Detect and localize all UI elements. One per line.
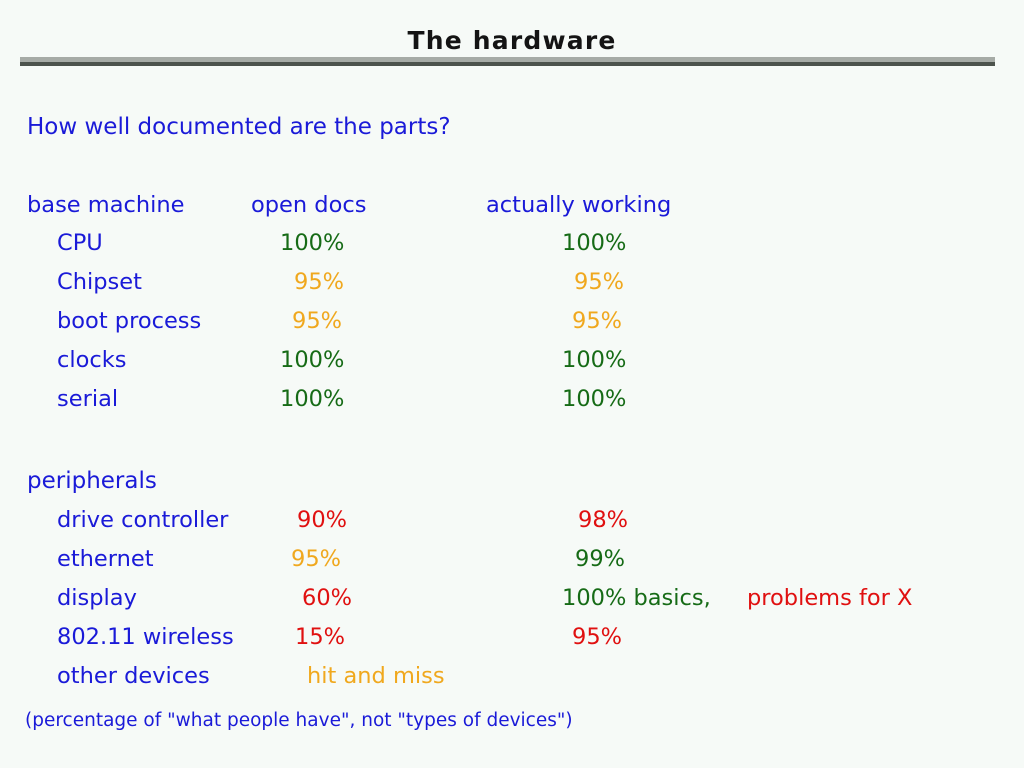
cell-open-docs-cpu: 100%	[280, 230, 344, 256]
column-header-open-docs: open docs	[251, 192, 366, 218]
cell-working-802-11-wireless: 95%	[572, 624, 622, 650]
cell-open-docs-chipset: 95%	[294, 269, 344, 295]
page-title: The hardware	[0, 26, 1024, 55]
section-header-peripherals: peripherals	[27, 468, 157, 494]
cell-working-display-note: problems for X	[747, 585, 912, 611]
question-line: How well documented are the parts?	[27, 114, 451, 140]
table-row: CPU 100% 100%	[0, 230, 1024, 269]
footnote: (percentage of "what people have", not "…	[25, 710, 573, 731]
table-row: serial 100% 100%	[0, 386, 1024, 425]
table-row: clocks 100% 100%	[0, 347, 1024, 386]
divider-dark-band	[20, 62, 995, 66]
cell-working-chipset: 95%	[574, 269, 624, 295]
row-label-cpu: CPU	[57, 230, 103, 256]
row-label-802-11-wireless: 802.11 wireless	[57, 624, 234, 650]
cell-open-docs-802-11-wireless: 15%	[295, 624, 345, 650]
cell-working-ethernet: 99%	[575, 546, 625, 572]
cell-open-docs-serial: 100%	[280, 386, 344, 412]
cell-working-boot-process: 95%	[572, 308, 622, 334]
cell-open-docs-boot-process: 95%	[292, 308, 342, 334]
table-row: display 60% 100% basics, problems for X	[0, 585, 1024, 624]
row-label-display: display	[57, 585, 137, 611]
row-label-clocks: clocks	[57, 347, 127, 373]
column-header-group: base machine	[27, 192, 184, 218]
cell-open-docs-other-devices: hit and miss	[307, 663, 445, 689]
cell-open-docs-drive-controller: 90%	[297, 507, 347, 533]
cell-working-clocks: 100%	[562, 347, 626, 373]
cell-open-docs-clocks: 100%	[280, 347, 344, 373]
row-label-drive-controller: drive controller	[57, 507, 228, 533]
row-label-boot-process: boot process	[57, 308, 201, 334]
cell-working-display: 100% basics,	[562, 585, 711, 611]
cell-working-serial: 100%	[562, 386, 626, 412]
title-divider	[20, 57, 995, 66]
cell-working-cpu: 100%	[562, 230, 626, 256]
cell-working-drive-controller: 98%	[578, 507, 628, 533]
row-label-chipset: Chipset	[57, 269, 142, 295]
table-row: boot process 95% 95%	[0, 308, 1024, 347]
row-label-ethernet: ethernet	[57, 546, 154, 572]
table-row: drive controller 90% 98%	[0, 507, 1024, 546]
table-row: ethernet 95% 99%	[0, 546, 1024, 585]
column-header-actually-working: actually working	[486, 192, 671, 218]
cell-open-docs-ethernet: 95%	[291, 546, 341, 572]
table-header-row: base machine open docs actually working	[0, 192, 1024, 231]
table-row: 802.11 wireless 15% 95%	[0, 624, 1024, 663]
row-label-serial: serial	[57, 386, 118, 412]
cell-open-docs-display: 60%	[302, 585, 352, 611]
table-row: other devices hit and miss	[0, 663, 1024, 702]
table-row: Chipset 95% 95%	[0, 269, 1024, 308]
row-label-other-devices: other devices	[57, 663, 210, 689]
